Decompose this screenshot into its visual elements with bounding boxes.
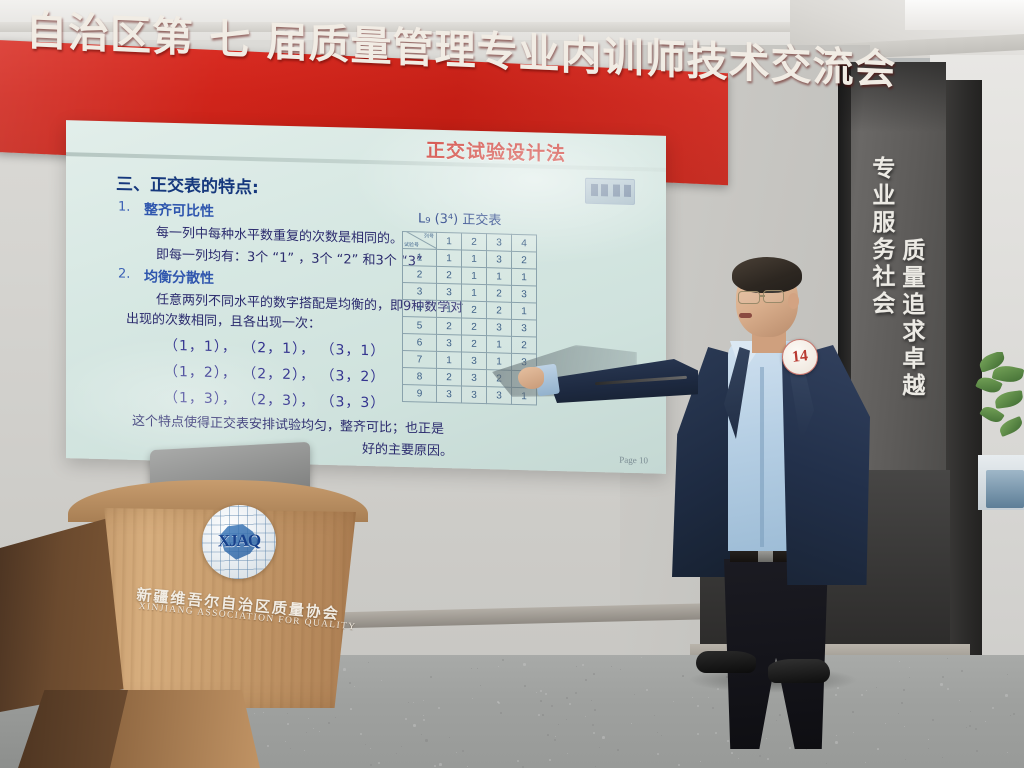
floor-speck [826, 763, 827, 764]
floor-speck [308, 718, 309, 719]
table-cell: 2 [437, 368, 462, 386]
floor-speck [776, 720, 777, 721]
floor-speck [585, 679, 587, 681]
floor-speck [789, 747, 791, 749]
table-cell: 1 [437, 300, 462, 318]
floor-speck [456, 752, 457, 753]
floor-speck [498, 702, 500, 704]
table-cell: 1 [462, 284, 487, 302]
floor-speck [430, 676, 432, 678]
floor-speck [715, 732, 717, 734]
floor-speck [975, 728, 977, 730]
floor-speck [287, 723, 289, 725]
floor-speck [575, 692, 577, 694]
floor-speck [328, 722, 330, 724]
floor-speck [421, 734, 422, 735]
floor-speck [899, 661, 900, 662]
floor-speck [313, 728, 314, 729]
attendee-badge: 14 [782, 339, 818, 375]
table-row-header: 7 [403, 350, 437, 368]
floor-speck [866, 690, 867, 691]
corner-row-label: 试验号 [404, 241, 419, 248]
floor-speck [959, 700, 960, 701]
table-cell: 2 [462, 335, 487, 353]
floor-speck [554, 739, 556, 741]
floor-speck [471, 668, 472, 669]
floor-speck [549, 759, 551, 761]
corner-col-label: 列号 [424, 233, 434, 240]
floor-speck [304, 750, 305, 751]
floor-speck [365, 744, 366, 745]
table-cell: 2 [462, 301, 487, 319]
floor-speck [555, 736, 556, 737]
floor-speck [413, 702, 414, 703]
floor-speck [502, 659, 504, 661]
floor-speck [592, 724, 594, 726]
floor-speck [1010, 715, 1011, 716]
floor-speck [567, 753, 568, 754]
floor-speck [472, 698, 473, 699]
bullet-2-number: 2. [118, 267, 130, 282]
slide-heading: 三、正交表的特点: [116, 169, 259, 198]
floor-speck [976, 750, 978, 752]
floor-speck [836, 735, 837, 736]
shirt-placket [760, 367, 764, 547]
floor-speck [449, 737, 450, 738]
floor-speck [595, 766, 596, 767]
presenter: 14 [600, 255, 860, 685]
floor-speck [654, 715, 655, 716]
floor-speck [673, 701, 674, 702]
potted-plant [975, 352, 1024, 462]
floor-speck [966, 727, 967, 728]
xjaq-logo: XJAQ [202, 504, 276, 579]
floor-speck [767, 758, 769, 760]
floor-speck [500, 712, 502, 714]
ear [788, 293, 799, 309]
table-cell: 2 [487, 302, 512, 320]
table-cell: 1 [487, 336, 512, 354]
floor-speck [381, 680, 382, 681]
floor-speck [538, 714, 540, 716]
floor-speck [885, 723, 886, 724]
floor-speck [898, 713, 899, 714]
floor-speck [545, 693, 547, 695]
floor-speck [370, 764, 372, 766]
table-cell: 3 [512, 319, 537, 337]
floor-speck [697, 733, 699, 735]
floor-speck [678, 764, 680, 766]
ceiling-right-panel [905, 0, 1024, 30]
table-cell: 2 [437, 266, 462, 284]
table-cell: 2 [512, 336, 537, 354]
floor-speck [498, 666, 499, 667]
floor-speck [1013, 713, 1015, 715]
floor-speck [700, 761, 701, 762]
glasses-icon [738, 291, 760, 304]
floor-speck [536, 692, 537, 693]
floor-speck [599, 747, 600, 748]
table-cell: 3 [437, 283, 462, 301]
table-cell: 2 [462, 318, 487, 336]
table-row-header: 3 [403, 282, 437, 300]
floor-speck [254, 713, 255, 714]
floor-speck [350, 708, 352, 710]
floor-speck [947, 658, 948, 659]
floor-speck [1007, 752, 1008, 753]
pillar-calligraphy-left: 质量追求卓越 [896, 238, 926, 400]
floor-speck [992, 707, 994, 709]
floor-speck [970, 711, 971, 712]
shoe-left [696, 651, 756, 673]
table-cell: 3 [437, 385, 462, 403]
floor-speck [423, 715, 424, 716]
floor-speck [335, 717, 336, 718]
closing-line-2: 好的主要原因。 [362, 438, 453, 459]
floor-speck [961, 670, 963, 672]
floor-speck [477, 668, 478, 669]
floor-speck [594, 709, 596, 711]
floor-speck [877, 748, 879, 750]
floor-speck [904, 726, 905, 727]
table-cell: 1 [512, 302, 537, 320]
floor-speck [712, 707, 714, 709]
floor-speck [343, 668, 346, 671]
floor-speck [903, 689, 905, 691]
table-cell: 3 [462, 369, 487, 387]
floor-speck [480, 685, 481, 686]
floor-speck [378, 762, 380, 764]
floor-speck [661, 735, 662, 736]
floor-speck [779, 714, 781, 716]
floor-speck [413, 724, 416, 727]
table-cell: 3 [487, 319, 512, 337]
floor-speck [408, 702, 409, 703]
floor-speck [349, 682, 351, 684]
floor-speck [423, 700, 424, 701]
glasses-bridge [759, 295, 765, 297]
floor-speck [467, 766, 468, 767]
floor-speck [585, 716, 586, 717]
mouth [739, 313, 752, 318]
floor-speck [439, 763, 442, 766]
floor-speck [566, 719, 567, 720]
table-cell: 1 [437, 249, 462, 267]
floor-speck [657, 732, 658, 733]
floor-speck [434, 765, 436, 767]
pillar-calligraphy-right: 专业服务社会 [866, 156, 896, 318]
floor-speck [766, 738, 767, 739]
floor-speck [657, 753, 659, 755]
table-row-header: 8 [403, 367, 437, 385]
table-cell: 2 [487, 285, 512, 303]
floor-speck [354, 686, 355, 687]
floor-speck [940, 683, 943, 686]
floor-speck [901, 702, 903, 704]
belt-buckle [758, 551, 773, 562]
floor-speck [853, 732, 854, 733]
floor-speck [591, 700, 592, 701]
floor-speck [285, 741, 286, 742]
floor-speck [360, 733, 362, 735]
floor-speck [731, 752, 733, 754]
glasses-lens-right [763, 290, 784, 303]
floor-speck [942, 676, 944, 678]
floor-speck [942, 757, 943, 758]
shoe-right [768, 659, 830, 683]
floor-speck [928, 748, 929, 749]
floor-speck [547, 734, 549, 736]
floor-speck [423, 719, 425, 721]
floor-speck [852, 711, 854, 713]
floor-speck [969, 725, 971, 727]
table-cell: 1 [462, 267, 487, 285]
floor-speck [401, 746, 402, 747]
floor-speck [692, 697, 693, 698]
table-column-header: 2 [462, 233, 487, 251]
floor-speck [263, 712, 264, 713]
conference-room-scene: 自治区第 七 届质量管理专业内训师技术交流会 正交试验设计法 三、正交表的特点:… [0, 0, 1024, 768]
bullet-1-number: 1. [118, 200, 130, 215]
floor-speck [576, 666, 577, 667]
bullet-1-heading: 整齐可比性 [144, 199, 214, 221]
floor-speck [759, 755, 761, 757]
floor-speck [569, 703, 571, 705]
floor-speck [425, 739, 428, 742]
floor-speck [438, 707, 440, 709]
table-row-header: 2 [403, 265, 437, 283]
pointing-hand [518, 367, 544, 389]
floor-speck [634, 694, 635, 695]
floor-speck [306, 732, 307, 733]
floor-speck [370, 748, 371, 749]
table-row-header: 5 [403, 316, 437, 334]
table-row-header: 9 [403, 384, 437, 402]
floor-speck [861, 694, 863, 696]
floor-speck [1007, 674, 1008, 675]
floor-speck [582, 664, 584, 666]
floor-speck [319, 731, 320, 732]
table-cell: 2 [512, 251, 537, 269]
floor-speck [396, 753, 397, 754]
podium-base [110, 690, 260, 768]
floor-speck [617, 749, 619, 751]
floor-speck [835, 694, 837, 696]
floor-speck [524, 685, 526, 687]
floor-speck [876, 687, 877, 688]
table-row-header: 4 [403, 299, 437, 317]
floor-speck [697, 705, 699, 707]
floor-speck [542, 714, 544, 716]
floor-speck [708, 697, 709, 698]
floor-speck [865, 762, 866, 763]
floor-speck [540, 690, 542, 692]
floor-speck [593, 732, 595, 734]
table-row-header: 1 [403, 248, 437, 266]
table-cell: 3 [462, 352, 487, 370]
bullet-2-heading: 均衡分散性 [144, 266, 214, 288]
floor-speck [947, 688, 949, 690]
floor-speck [267, 745, 269, 747]
floor-speck [905, 759, 906, 760]
floor-speck [593, 673, 595, 675]
floor-speck [523, 663, 526, 666]
floor-speck [646, 689, 648, 691]
table-cell: 3 [437, 334, 462, 352]
slide-title: 正交试验设计法 [426, 136, 566, 167]
table-cell: 1 [437, 351, 462, 369]
floor-speck [566, 697, 568, 699]
orthogonal-table-caption: L₉ (3⁴) 正交表 [418, 207, 501, 228]
logo-text: XJAQ [202, 530, 276, 551]
floor-speck [462, 750, 464, 752]
table-corner-cell: 列号试验号 [403, 231, 437, 249]
table-cell: 3 [512, 285, 537, 303]
floor-speck [290, 748, 291, 749]
floor-speck [909, 677, 910, 678]
floor-speck [368, 662, 369, 663]
table-cell: 2 [437, 317, 462, 335]
table-column-header: 4 [512, 234, 537, 252]
floor-speck [806, 749, 807, 750]
floor-speck [602, 736, 605, 739]
floor-speck [738, 758, 739, 759]
floor-speck [517, 760, 519, 762]
floor-speck [909, 667, 910, 668]
table-cell: 3 [462, 386, 487, 404]
projection-screen: 正交试验设计法 三、正交表的特点: 1. 整齐可比性 每一列中每种水平数重复的次… [66, 120, 666, 474]
floor-speck [558, 724, 559, 725]
table-column-header: 1 [437, 232, 462, 250]
floor-speck [932, 719, 934, 721]
table-row-header: 6 [403, 333, 437, 351]
floor-speck [835, 741, 838, 744]
table-cell: 3 [487, 251, 512, 269]
display-device-icon [585, 178, 635, 205]
table-cell: 1 [512, 268, 537, 286]
table-cell: 1 [462, 250, 487, 268]
floor-speck [540, 700, 542, 702]
floor-speck [405, 718, 407, 720]
floor-speck [551, 705, 553, 707]
floor-speck [287, 713, 288, 714]
hair [732, 257, 802, 293]
floor-speck [985, 721, 986, 722]
table-column-header: 3 [487, 234, 512, 252]
floor-speck [727, 740, 729, 742]
floor-speck [631, 723, 632, 724]
floor-speck [928, 739, 929, 740]
plant-pot-wrap [986, 470, 1024, 508]
table-cell: 1 [487, 268, 512, 286]
badge-number: 14 [791, 347, 809, 367]
floor-speck [1005, 694, 1008, 697]
